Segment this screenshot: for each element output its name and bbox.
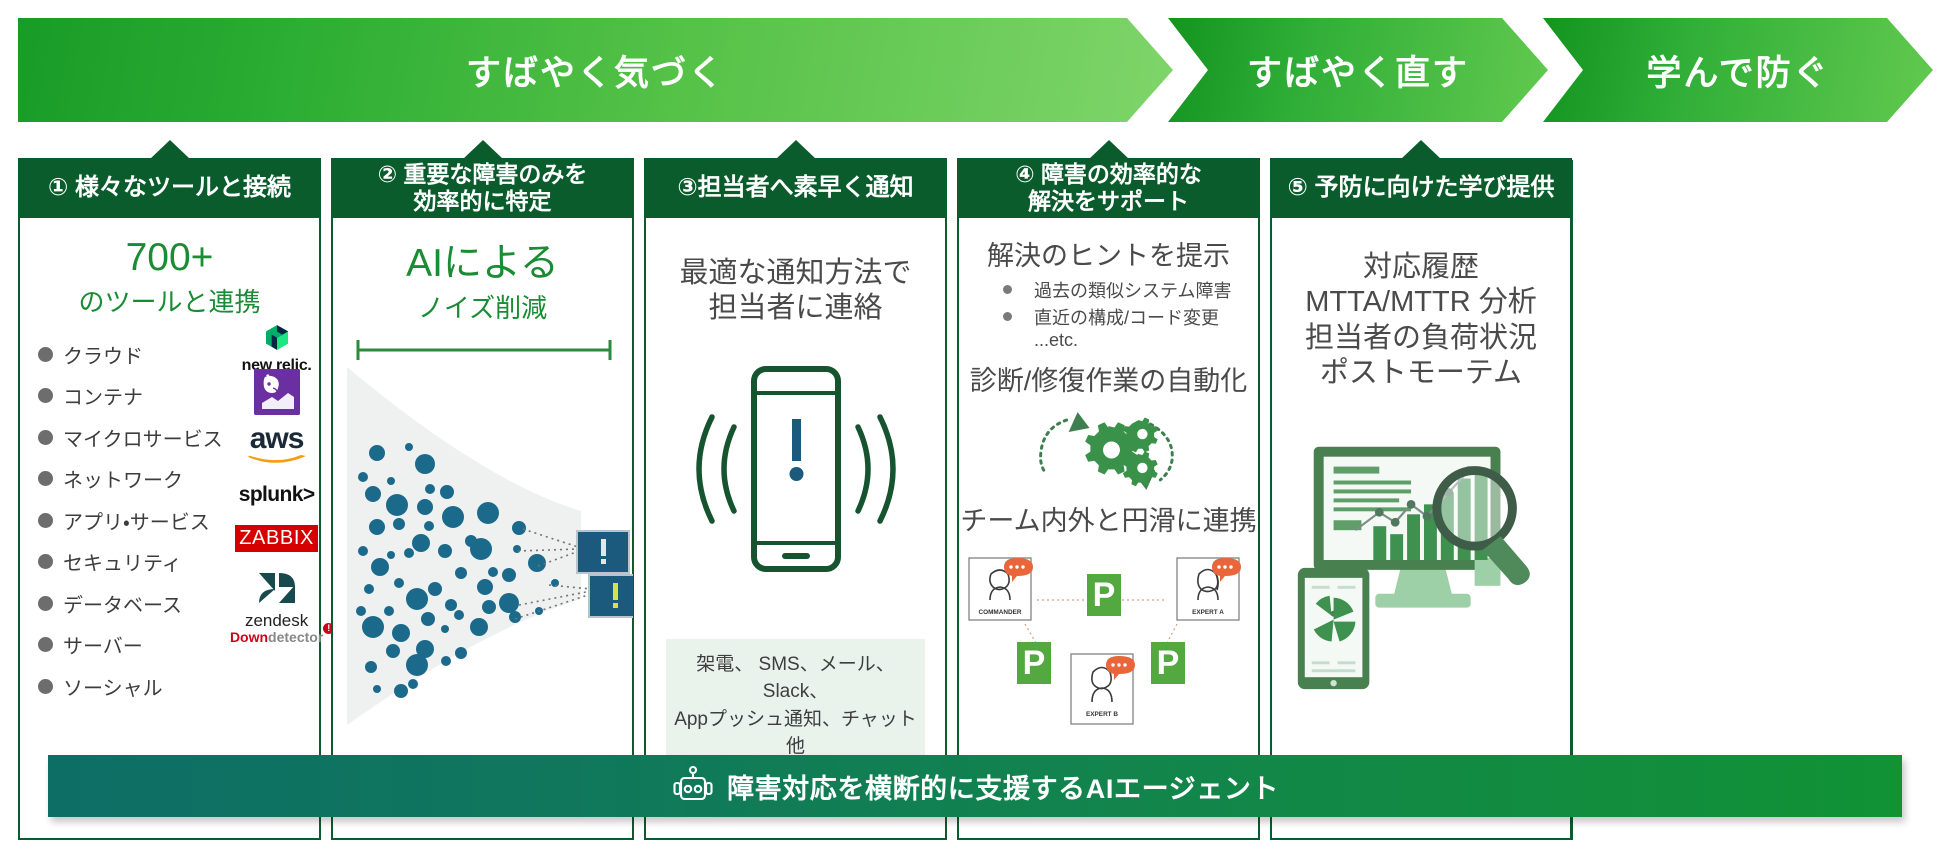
svg-text:COMMANDER: COMMANDER	[979, 609, 1022, 616]
datadog-logo	[223, 369, 331, 415]
list-item: ソーシャル	[38, 665, 223, 707]
ai-agent-label: 障害対応を横断的に支援するAIエージェント	[727, 767, 1279, 806]
alert-box-bottom	[589, 575, 633, 617]
svg-text:EXPERT B: EXPERT B	[1086, 711, 1118, 718]
person-card-commander: COMMANDER	[969, 558, 1033, 620]
column-4-header-line2: 解決をサポート	[1015, 188, 1202, 215]
bullet-dot-icon	[38, 430, 53, 445]
noise-funnel-illustration	[333, 333, 632, 753]
ai-headline: AIによる	[333, 242, 632, 286]
ai-subline: ノイズ削減	[333, 288, 632, 325]
pagerduty-tile: P	[1087, 574, 1121, 616]
bullet-dot-icon	[38, 596, 53, 611]
learning-topic-3: 担当者の負荷状況	[1272, 321, 1570, 356]
phone-alert-illustration	[646, 341, 945, 631]
notify-headline: 最適な通知方法で 担当者に連絡	[646, 256, 945, 327]
tool-category-label: データベース	[63, 589, 182, 618]
team-svg: COMMANDER EXPERT A	[959, 538, 1259, 734]
measure-bracket-icon	[355, 339, 613, 361]
column-4-body: 解決のヒントを提示 過去の類似システム障害 直近の構成/コード変更 ...etc…	[959, 218, 1258, 836]
column-4-header: ④ 障害の効率的な 解決をサポート	[957, 158, 1260, 218]
column-5-header-label: ⑤ 予防に向けた学び提供	[1288, 174, 1555, 202]
tool-category-label: ネットワーク	[63, 464, 183, 493]
pagerduty-tile: P	[1151, 642, 1185, 684]
column-5-header: ⑤ 予防に向けた学び提供	[1270, 158, 1572, 218]
capability-columns: ① 様々なツールと接続 700+ のツールと連携 クラウド コンテナ マイクロサ…	[0, 140, 1950, 860]
aws-wordmark: aws	[223, 425, 331, 452]
downdetector-strong: Down	[230, 629, 268, 645]
learning-topics: 対応履歴 MTTA/MTTR 分析 担当者の負荷状況 ポストモーテム	[1272, 250, 1570, 392]
column-learn-prevent: ⑤ 予防に向けた学び提供 対応履歴 MTTA/MTTR 分析 担当者の負荷状況 …	[1270, 160, 1573, 840]
hint-label: 直近の構成/コード変更 ...etc.	[1034, 304, 1258, 351]
column-1-header: ① 様々なツールと接続	[18, 158, 321, 218]
list-item: サーバー	[38, 624, 223, 666]
tool-category-label: サーバー	[63, 630, 143, 659]
robot-icon	[671, 764, 715, 808]
ai-agent-bar: 障害対応を横断的に支援するAIエージェント	[48, 755, 1902, 817]
slide-canvas: すばやく気づく すばやく直す 学んで防ぐ ① 様々なツールと接続 700+ のツ…	[0, 0, 1950, 860]
person-card-expert-b: EXPERT B	[1071, 654, 1135, 724]
column-resolve: ④ 障害の効率的な 解決をサポート 解決のヒントを提示 過去の類似システム障害 …	[957, 160, 1260, 840]
phase-chevron-fix: すばやく直す	[1168, 18, 1548, 122]
tool-category-label: コンテナ	[63, 381, 143, 410]
column-3-header-label: ③担当者へ素早く通知	[677, 174, 913, 202]
bullet-dot-icon	[38, 554, 53, 569]
team-collaboration-diagram: COMMANDER EXPERT A	[959, 538, 1258, 734]
svg-text:P: P	[1023, 644, 1046, 682]
phase-chevron-detect: すばやく気づく	[18, 18, 1173, 122]
list-item: 直近の構成/コード変更 ...etc.	[1003, 304, 1258, 351]
datadog-mark-icon	[254, 369, 300, 415]
list-item: コンテナ	[38, 375, 223, 417]
downdetector-rest: detector	[268, 629, 323, 645]
splunk-wordmark: splunk	[239, 483, 303, 506]
learning-topic-2: MTTA/MTTR 分析	[1272, 285, 1570, 320]
list-item: ネットワーク	[38, 458, 223, 500]
collaboration-title: チーム内外と円滑に連携	[959, 505, 1258, 538]
tool-category-area: クラウド コンテナ マイクロサービス ネットワーク アプリ・サービス セキュリテ…	[20, 333, 319, 707]
column-connect-tools: ① 様々なツールと接続 700+ のツールと連携 クラウド コンテナ マイクロサ…	[18, 160, 321, 840]
svg-text:P: P	[1093, 576, 1116, 614]
zendesk-logo: zendesk	[223, 571, 331, 631]
column-noise-reduction: ② 重要な障害のみを 効率的に特定 AIによる ノイズ削減	[331, 160, 634, 840]
aws-smile-icon	[246, 453, 308, 466]
notify-headline-line2: 担当者に連絡	[646, 291, 945, 326]
splunk-logo: splunk>	[223, 483, 331, 507]
hint-label: 過去の類似システム障害	[1034, 277, 1231, 303]
bullet-dot-icon	[38, 388, 53, 403]
notification-channels-line1: 架電、 SMS、メール、Slack、	[672, 651, 919, 706]
gears-automation-icon	[959, 398, 1258, 494]
tool-category-label: アプリ・サービス	[63, 506, 210, 535]
datadog-dog-icon	[254, 369, 300, 415]
zendesk-wordmark: zendesk	[223, 611, 331, 631]
phase-label-fix: すばやく直す	[1247, 45, 1469, 96]
column-4-header-line1: ④ 障害の効率的な	[1015, 161, 1202, 188]
bullet-dot-icon	[38, 513, 53, 528]
notification-channels-box: 架電、 SMS、メール、Slack、 Appプッシュ通知、チャット 他	[666, 639, 925, 773]
funnel-svg	[333, 361, 633, 731]
tool-count-sub: のツールと連携	[20, 282, 319, 319]
tool-category-list: クラウド コンテナ マイクロサービス ネットワーク アプリ・サービス セキュリテ…	[20, 333, 223, 707]
column-1-body: 700+ のツールと連携 クラウド コンテナ マイクロサービス ネットワーク ア…	[20, 218, 319, 836]
column-2-header-line1: ② 重要な障害のみを	[378, 161, 588, 188]
learning-topic-1: 対応履歴	[1272, 250, 1570, 285]
tool-count: 700+	[20, 236, 319, 280]
list-item: マイクロサービス	[38, 416, 223, 458]
bullet-dot-icon	[1003, 285, 1012, 294]
column-3-header: ③担当者へ素早く通知	[644, 158, 947, 218]
column-5-body: 対応履歴 MTTA/MTTR 分析 担当者の負荷状況 ポストモーテム	[1272, 218, 1570, 836]
svg-text:EXPERT A: EXPERT A	[1192, 609, 1224, 616]
tool-category-label: ソーシャル	[63, 672, 163, 701]
column-3-body: 最適な通知方法で 担当者に連絡	[646, 218, 945, 836]
column-2-body: AIによる ノイズ削減	[333, 218, 632, 836]
bullet-dot-icon	[38, 679, 53, 694]
bullet-dot-icon	[1003, 312, 1012, 321]
column-notify: ③担当者へ素早く通知 最適な通知方法で 担当者に連絡	[644, 160, 947, 840]
column-1-header-label: ① 様々なツールと接続	[48, 174, 291, 202]
person-card-expert-a: EXPERT A	[1177, 558, 1241, 620]
notify-headline-line1: 最適な通知方法で	[646, 256, 945, 291]
zendesk-mark-icon	[257, 571, 297, 605]
list-item: セキュリティ	[38, 541, 223, 583]
aws-logo: aws	[223, 425, 331, 471]
list-item: アプリ・サービス	[38, 499, 223, 541]
pagerduty-tile: P	[1017, 642, 1051, 684]
newrelic-mark-icon	[266, 325, 288, 350]
hints-title: 解決のヒントを提示	[959, 240, 1258, 273]
hints-list: 過去の類似システム障害 直近の構成/コード変更 ...etc.	[1003, 277, 1258, 351]
tool-category-label: セキュリティ	[63, 547, 182, 576]
bullet-dot-icon	[38, 471, 53, 486]
phone-svg	[646, 341, 946, 631]
list-item: クラウド	[38, 333, 223, 375]
downdetector-logo: Downdetector!	[223, 629, 331, 647]
notification-channels-line2: Appプッシュ通知、チャット 他	[672, 706, 919, 761]
list-item: 過去の類似システム障害	[1003, 277, 1258, 303]
phase-label-detect: すばやく気づく	[466, 45, 725, 96]
integration-logo-list: new relic.	[223, 333, 319, 707]
newrelic-logo: new relic.	[223, 325, 331, 375]
list-item: データベース	[38, 582, 223, 624]
phase-label-prevent: 学んで防ぐ	[1646, 45, 1829, 96]
zabbix-wordmark: ZABBIX	[235, 525, 318, 552]
analytics-dashboard-icon	[1272, 408, 1570, 708]
alert-box-top	[577, 531, 629, 573]
downdetector-wordmark: Downdetector!	[230, 629, 323, 645]
svg-text:P: P	[1157, 644, 1180, 682]
automation-title: 診断/修復作業の自動化	[959, 365, 1258, 398]
phase-chevron-prevent: 学んで防ぐ	[1543, 18, 1933, 122]
column-2-header-line2: 効率的に特定	[378, 188, 588, 215]
phase-chevron-band: すばやく気づく すばやく直す 学んで防ぐ	[0, 0, 1950, 140]
learning-topic-4: ポストモーテム	[1272, 356, 1570, 391]
splunk-chevron-icon: >	[303, 483, 315, 506]
zabbix-logo: ZABBIX	[223, 525, 331, 552]
tool-category-label: クラウド	[63, 340, 143, 369]
tool-category-label: マイクロサービス	[63, 423, 223, 452]
bullet-dot-icon	[38, 347, 53, 362]
bullet-dot-icon	[38, 637, 53, 652]
column-2-header: ② 重要な障害のみを 効率的に特定	[331, 158, 634, 218]
